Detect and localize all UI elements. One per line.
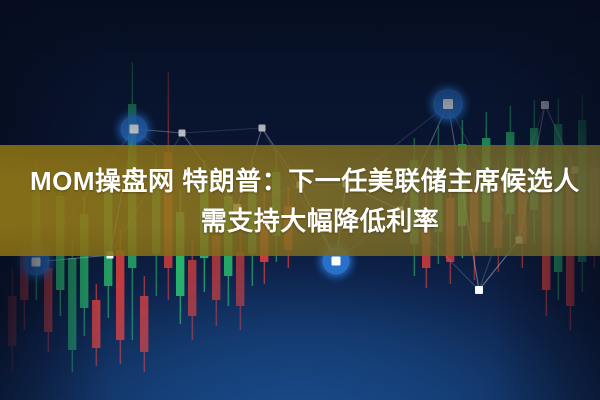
headline-line-1: MOM操盘网 特朗普：下一任美联储主席候选人 <box>30 161 580 201</box>
news-banner: MOM操盘网 特朗普：下一任美联储主席候选人 需支持大幅降低利率 <box>0 0 600 400</box>
headline-text-block: MOM操盘网 特朗普：下一任美联储主席候选人 需支持大幅降低利率 <box>0 145 600 256</box>
headline-line-2: 需支持大幅降低利率 <box>201 201 440 241</box>
